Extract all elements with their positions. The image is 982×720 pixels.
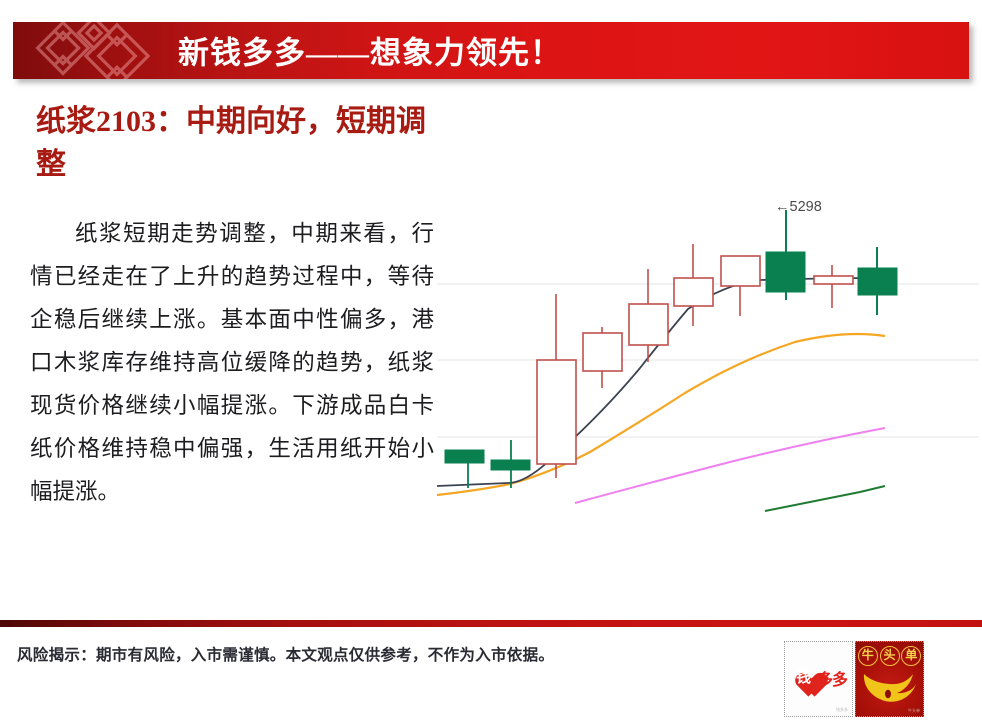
candle-bar xyxy=(814,265,853,308)
candle-bar xyxy=(537,294,576,478)
candle-bar xyxy=(858,247,897,315)
series-ma-mid xyxy=(437,334,885,495)
candle-bar-5298 xyxy=(766,210,805,300)
candle-bar xyxy=(629,269,668,362)
candle-bar xyxy=(583,327,622,388)
header-title: 新钱多多——想象力领先！ xyxy=(178,27,562,72)
disclaimer-text: 风险揭示：期市有风险，入市需谨慎。本文观点仅供参考，不作为入市依据。 xyxy=(17,643,554,665)
stamp-char: 单 xyxy=(901,646,921,666)
footer-stamps: 钱 多多 钱多多 牛 头 单 牛头单 xyxy=(784,641,924,717)
header-banner: 新钱多多——想象力领先！ xyxy=(13,22,969,79)
stamp-heart-char: 钱 xyxy=(796,666,811,687)
stamp-micro-text: 钱多多 xyxy=(836,707,848,713)
page-title: 纸浆2103：中期向好，短期调整 xyxy=(36,101,436,186)
candle-bar xyxy=(674,244,713,326)
candlestick-chart xyxy=(430,190,982,515)
stamp-micro-text: 牛头单 xyxy=(908,708,920,714)
niu-tou-dan-stamp: 牛 头 单 牛头单 xyxy=(855,641,924,717)
bull-head-icon xyxy=(861,664,919,712)
stamp-char: 头 xyxy=(880,646,900,666)
candle-bar xyxy=(721,256,760,316)
price-annotation-5298: ←5298 xyxy=(775,199,822,215)
chart-canvas xyxy=(430,190,982,515)
series-ma-long xyxy=(575,428,885,503)
footer-divider xyxy=(0,620,982,627)
body-paragraph: 纸浆短期走势调整，中期来看，行情已经走在了上升的趋势过程中，等待企稳后继续上涨。… xyxy=(30,212,434,513)
stamp-char: 牛 xyxy=(858,646,878,666)
candle-series xyxy=(445,210,897,488)
qian-duo-duo-stamp: 钱 多多 钱多多 xyxy=(784,641,853,717)
candle-bar xyxy=(445,450,484,488)
stamp-char-row: 牛 头 单 xyxy=(856,646,923,666)
lattice-diamond-ornament-icon xyxy=(31,22,166,79)
stamp-brand-text: 多多 xyxy=(817,666,847,690)
series-ma-extra xyxy=(765,486,885,511)
chart-gridlines xyxy=(437,284,979,437)
